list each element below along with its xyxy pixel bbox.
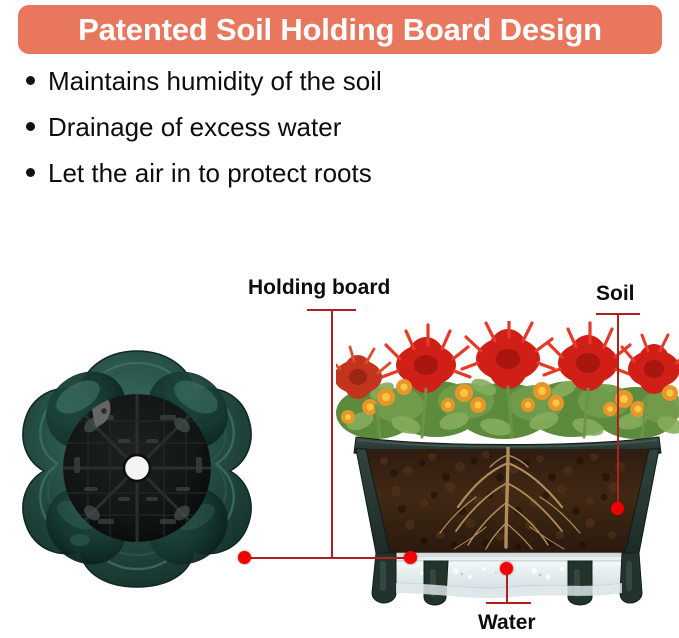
- header-banner: Patented Soil Holding Board Design: [18, 5, 662, 54]
- feature-text: Drainage of excess water: [48, 114, 341, 140]
- leader-line-water-bar: [486, 602, 531, 604]
- callout-label-soil: Soil: [596, 283, 635, 304]
- bullet-point-icon: [26, 168, 35, 177]
- callout-label-holding-board: Holding board: [248, 277, 390, 298]
- list-item: Maintains humidity of the soil: [26, 68, 546, 114]
- leader-line-holding-board-stem: [331, 309, 333, 558]
- callout-marker-holding-board-left: [238, 551, 251, 564]
- feature-list: Maintains humidity of the soil Drainage …: [26, 68, 546, 206]
- bullet-point-icon: [26, 122, 35, 131]
- bullet-point-icon: [26, 76, 35, 85]
- list-item: Drainage of excess water: [26, 114, 546, 160]
- feature-text: Maintains humidity of the soil: [48, 68, 382, 94]
- callout-label-water: Water: [478, 612, 536, 633]
- feature-text: Let the air in to protect roots: [48, 160, 372, 186]
- product-diagram: Holding board Soil Water: [0, 255, 679, 638]
- list-item: Let the air in to protect roots: [26, 160, 546, 206]
- callout-marker-water: [500, 562, 513, 575]
- leader-line-holding-board-left: [244, 557, 333, 559]
- clover-holding-board-icon: [14, 347, 260, 589]
- leader-line-holding-board-right: [331, 557, 411, 559]
- callout-marker-holding-board-right: [404, 551, 417, 564]
- callout-marker-soil: [611, 502, 624, 515]
- leader-line-soil-stem: [617, 313, 619, 509]
- page-title: Patented Soil Holding Board Design: [78, 14, 602, 45]
